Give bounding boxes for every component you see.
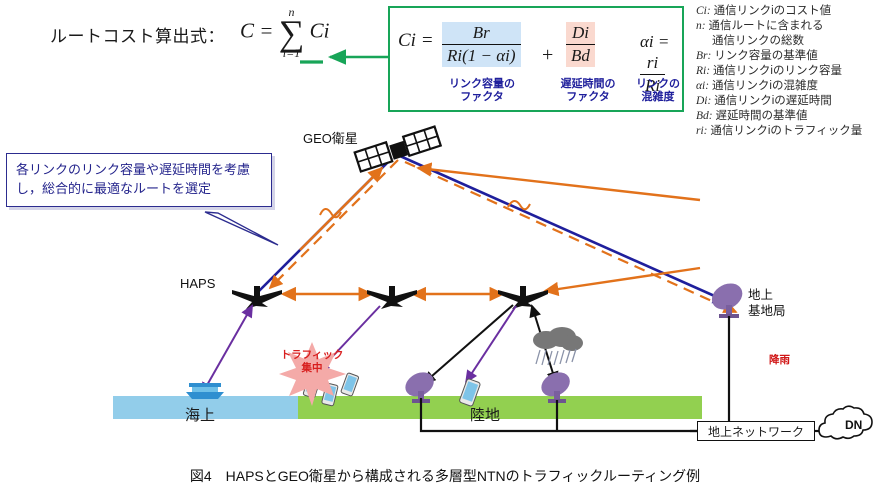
land-label: 陸地 [470, 404, 500, 425]
geo-satellite-icon [355, 127, 441, 172]
sum-term: Ci [310, 18, 330, 42]
alpha-lhs: αi = [640, 32, 669, 51]
term3-numerator: ri [640, 52, 665, 74]
sea-label: 海上 [185, 404, 215, 425]
delay-factor-fraction: Di Bd [566, 22, 595, 67]
legend-item-6: Di: 通信リンクiの遅延時間 [696, 94, 888, 109]
route-cost-label: ルートコスト算出式： [50, 22, 225, 47]
rain-label: 降雨 [769, 352, 790, 367]
legend-description: 通信リンクiの混雑度 [712, 80, 818, 92]
rain-cloud-icon [533, 327, 583, 365]
term1-denominator: Ri(1 − αi) [442, 44, 521, 67]
routing-policy-callout: 各リンクのリンク容量や遅延時間を考慮し，総合的に最適なルートを選定 [6, 153, 272, 207]
ground-station-dish-icon [707, 278, 747, 318]
legend-item-3: Br: リンク容量の基準値 [696, 49, 888, 64]
legend-symbol: αi: [696, 80, 712, 92]
symbol-legend: Ci: 通信リンクiのコスト値n: 通信ルートに含まれる通信リンクの総数Br: … [696, 4, 888, 138]
term1-caption: リンク容量の ファクタ [434, 78, 530, 103]
legend-item-7: Bd: 遅延時間の基準値 [696, 109, 888, 124]
haps-icon-3 [498, 286, 548, 309]
term3-caption: リンクの 混雑度 [630, 78, 686, 103]
ground-network-box: 地上ネットワーク [697, 421, 815, 441]
term2-denominator: Bd [566, 44, 595, 67]
legend-description: 通信リンクiの遅延時間 [714, 95, 832, 107]
sum-lhs: C [240, 18, 254, 42]
legend-symbol: Di: [696, 95, 714, 107]
legend-description: 遅延時間の基準値 [715, 110, 807, 122]
sum-equals: = [259, 18, 273, 42]
legend-description: 通信ルートに含まれる [708, 20, 823, 32]
haps-label: HAPS [180, 276, 215, 291]
geo-satellite-label: GEO衛星 [303, 128, 358, 147]
route-cost-sum-expression: C = n ∑ i=1 Ci [240, 6, 329, 59]
legend-item-0: Ci: 通信リンクiのコスト値 [696, 4, 888, 19]
plus-operator: + [542, 44, 553, 67]
legend-symbol: Br: [696, 50, 714, 62]
figure-canvas: ルートコスト算出式： C = n ∑ i=1 Ci Ci = Br Ri(1 −… [0, 0, 890, 500]
haps-icon-2 [367, 286, 417, 309]
legend-symbol: Bd: [696, 110, 715, 122]
ground-station-label: 地上 基地局 [748, 288, 786, 319]
dn-label: DN [845, 418, 862, 432]
callout-pointer [205, 212, 278, 245]
term2-numerator: Di [566, 22, 595, 44]
legend-item-8: ri: 通信リンクiのトラフィック量 [696, 124, 888, 139]
ci-lhs: Ci = [398, 30, 434, 52]
legend-description: 通信リンクiのリンク容量 [713, 65, 842, 77]
term1-numerator: Br [442, 22, 521, 44]
traffic-concentration-label: トラフィック 集中 [278, 349, 346, 374]
legend-item-1: n: 通信ルートに含まれる [696, 19, 888, 34]
legend-symbol: ri: [696, 125, 710, 137]
cost-formula-box: Ci = Br Ri(1 − αi) + Di Bd αi = ri Ri リン… [388, 6, 684, 112]
route-line-orange-dashed [270, 160, 736, 312]
haps-interlink-arrows [283, 268, 700, 294]
legend-description: 通信リンクの総数 [712, 35, 804, 47]
summation-symbol: n ∑ i=1 [279, 6, 305, 59]
legend-item-2: 通信リンクの総数 [696, 34, 888, 49]
legend-description: 通信リンクiのコスト値 [714, 5, 832, 17]
ship-icon [186, 383, 224, 399]
legend-item-4: Ri: 通信リンクiのリンク容量 [696, 64, 888, 79]
legend-symbol: n: [696, 20, 708, 32]
term2-caption: 遅延時間の ファクタ [548, 78, 628, 103]
legend-symbol: Ri: [696, 65, 713, 77]
haps-icon-1 [232, 286, 282, 309]
legend-description: リンク容量の基準値 [714, 50, 818, 62]
legend-item-5: αi: 通信リンクiの混雑度 [696, 79, 888, 94]
geo-feeder-arrows [300, 168, 700, 250]
figure-caption: 図4 HAPSとGEO衛星から構成される多層型NTNのトラフィックルーティング例 [0, 466, 890, 486]
legend-symbol: Ci: [696, 5, 714, 17]
legend-description: 通信リンクiのトラフィック量 [710, 125, 862, 137]
link-capacity-factor-fraction: Br Ri(1 − αi) [442, 22, 521, 67]
